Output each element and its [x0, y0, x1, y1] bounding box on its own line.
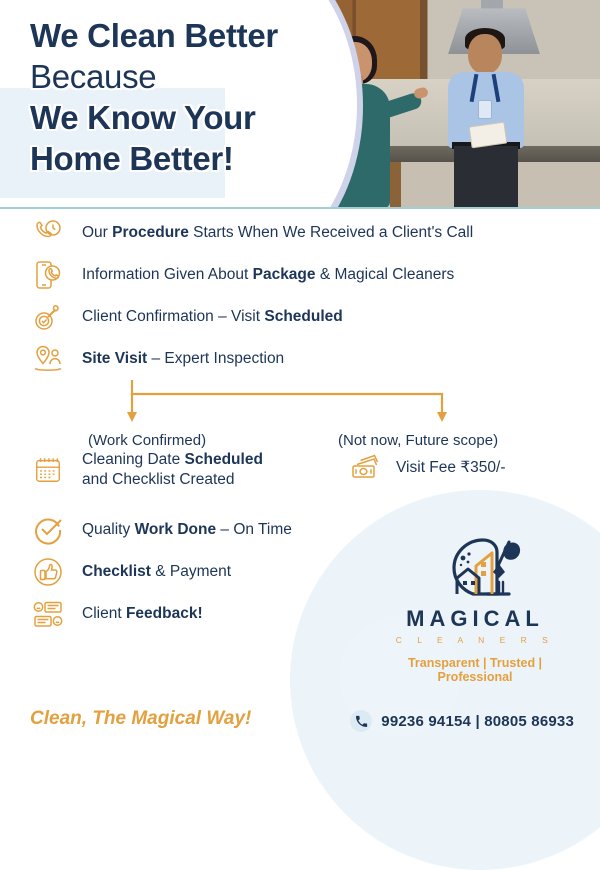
thumbs-up-icon	[30, 554, 66, 590]
money-cash-icon	[348, 449, 384, 485]
section-divider	[0, 207, 600, 209]
mobile-call-icon	[30, 257, 66, 293]
step-text: Client Feedback!	[82, 604, 203, 624]
branch-label-row: (Work Confirmed) (Not now, Future scope)	[0, 432, 600, 449]
headline-line-4: Home Better!	[30, 139, 278, 180]
branch-outcome-right: Visit Fee ₹350/-	[340, 449, 600, 485]
headline-line-3: We Know Your	[30, 98, 278, 139]
hero-headline: We Clean Better Because We Know Your Hom…	[30, 16, 278, 180]
phone-icon	[350, 710, 372, 732]
step-text: Checklist & Payment	[82, 562, 231, 582]
stamp-approval-icon	[30, 299, 66, 335]
calendar-icon	[30, 452, 66, 488]
step-item-cleaning-date: Cleaning Date Scheduled and Checklist Cr…	[0, 449, 340, 491]
logo-subtext: C L E A N E R S	[372, 635, 578, 645]
branch-label-right: (Not now, Future scope)	[338, 432, 498, 449]
step-item-procedure: Our Procedure Starts When We Received a …	[0, 212, 600, 254]
branch-outcome-left: Cleaning Date Scheduled and Checklist Cr…	[0, 449, 340, 491]
footer-tagline: Clean, The Magical Way!	[30, 708, 251, 730]
check-circle-icon	[30, 512, 66, 548]
headline-line-1: We Clean Better	[30, 16, 278, 57]
visit-fee-row: Visit Fee ₹350/-	[340, 449, 600, 485]
visit-fee-text: Visit Fee ₹350/-	[396, 458, 506, 477]
branch-outcomes-row: Cleaning Date Scheduled and Checklist Cr…	[0, 449, 600, 491]
feedback-icon	[30, 596, 66, 632]
phone-numbers: 99236 94154 | 80805 86933	[381, 713, 574, 730]
logo-wordmark: MAGICAL	[372, 606, 578, 632]
step-item-confirmation: Client Confirmation – Visit Scheduled	[0, 296, 600, 338]
step-text: Our Procedure Starts When We Received a …	[82, 223, 473, 243]
location-person-icon	[30, 341, 66, 377]
phone-clock-icon	[30, 215, 66, 251]
step-text: Cleaning Date Scheduled and Checklist Cr…	[82, 450, 263, 490]
step-text: Client Confirmation – Visit Scheduled	[82, 307, 343, 327]
hero-photo	[225, 0, 600, 208]
house-broom-badge-icon	[372, 532, 578, 604]
step-item-site-visit: Site Visit – Expert Inspection	[0, 338, 600, 380]
step-item-package-info: Information Given About Package & Magica…	[0, 254, 600, 296]
branch-label-left: (Work Confirmed)	[88, 432, 338, 449]
hero-section: We Clean Better Because We Know Your Hom…	[0, 0, 600, 208]
step-text: Quality Work Done – On Time	[82, 520, 292, 540]
step-text: Site Visit – Expert Inspection	[82, 349, 284, 369]
brand-logo-block: MAGICAL C L E A N E R S Transparent | Tr…	[372, 532, 578, 684]
person-man-inspector	[436, 28, 540, 208]
step-text: Information Given About Package & Magica…	[82, 265, 454, 285]
branch-connector	[0, 380, 600, 432]
footer-contact[interactable]: 99236 94154 | 80805 86933	[350, 710, 574, 732]
headline-line-2: Because	[30, 57, 278, 98]
logo-tagline: Transparent | Trusted | Professional	[372, 656, 578, 684]
